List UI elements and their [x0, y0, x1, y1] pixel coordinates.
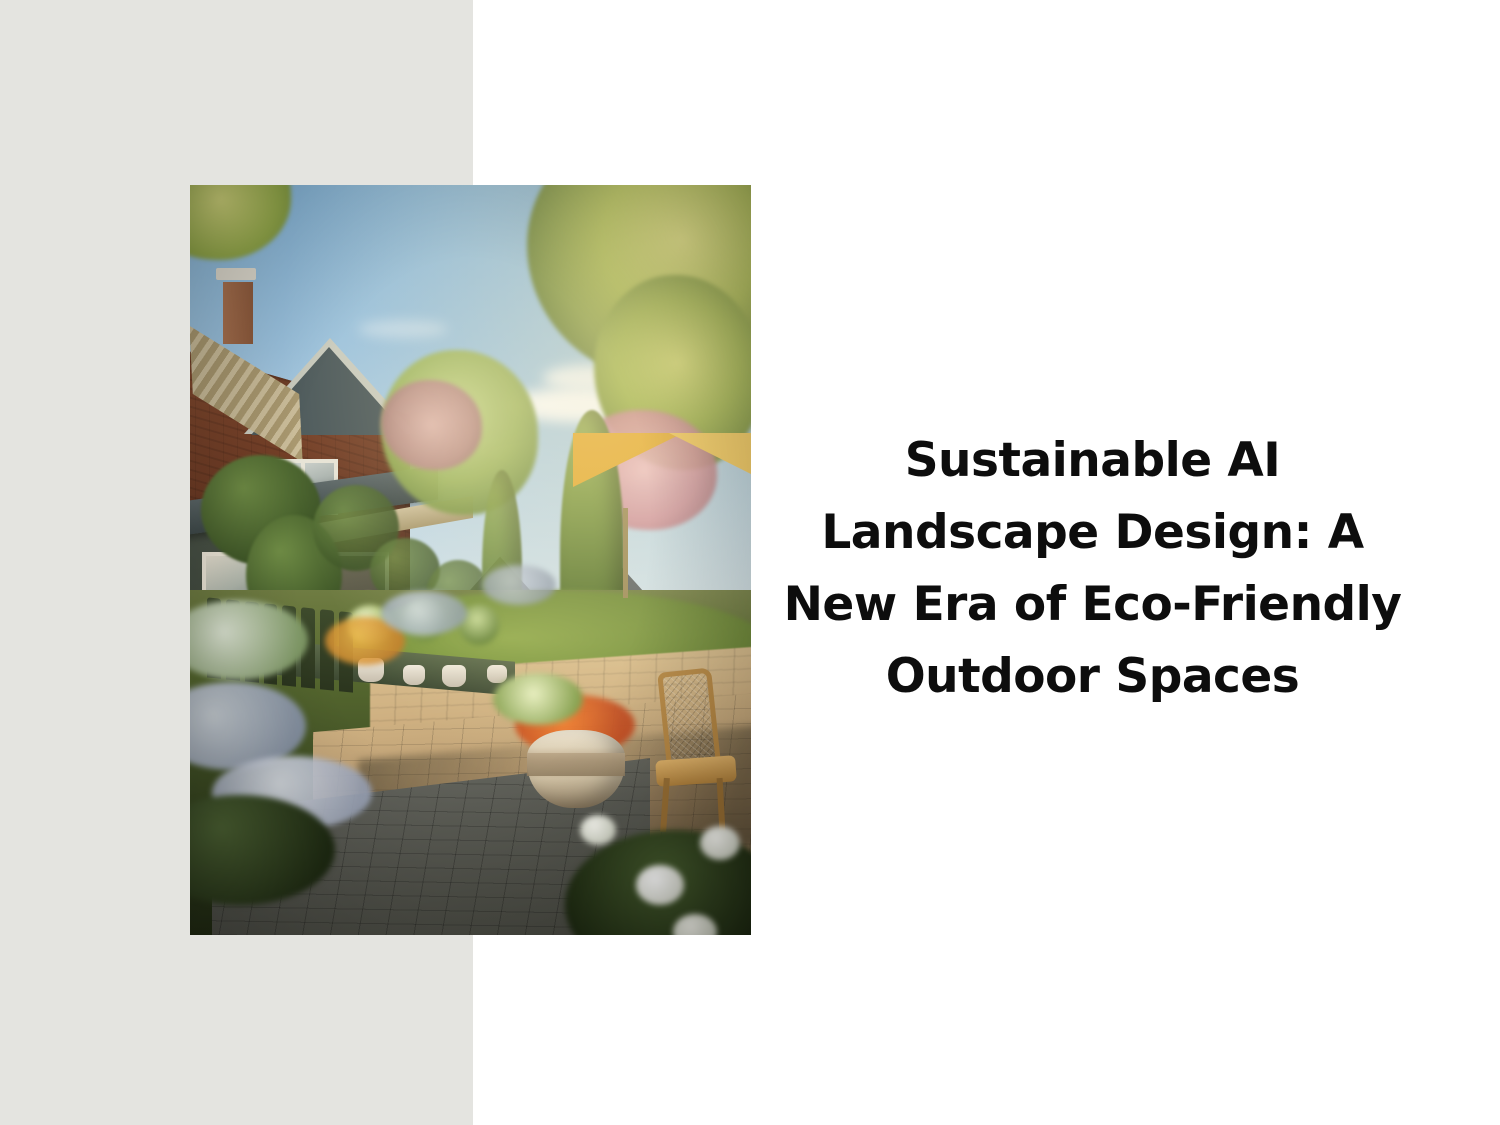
white-flower: [636, 865, 684, 905]
page-title: Sustainable AI Landscape Design: A New E…: [760, 425, 1425, 713]
garden-house-photo: [190, 185, 751, 935]
title-line-4: Outdoor Spaces: [760, 641, 1425, 713]
lavender-bed: [482, 565, 556, 605]
wicker-garden-chair: [656, 670, 740, 830]
lavender-bed: [381, 591, 467, 635]
umbrella-pole: [623, 508, 628, 598]
chimney: [223, 282, 253, 344]
shrub: [493, 673, 583, 725]
white-flower: [700, 826, 740, 860]
plant-pot: [442, 665, 466, 687]
round-woven-planter: [527, 730, 625, 808]
chimney-cap: [216, 268, 256, 280]
photo-scene: [190, 185, 751, 935]
title-line-3: New Era of Eco-Friendly: [760, 569, 1425, 641]
slide-canvas: Sustainable AI Landscape Design: A New E…: [0, 0, 1500, 1125]
patio-umbrella: [573, 433, 751, 495]
title-line-1: Sustainable AI: [760, 425, 1425, 497]
title-line-2: Landscape Design: A: [760, 497, 1425, 569]
plant-pot: [403, 665, 425, 685]
